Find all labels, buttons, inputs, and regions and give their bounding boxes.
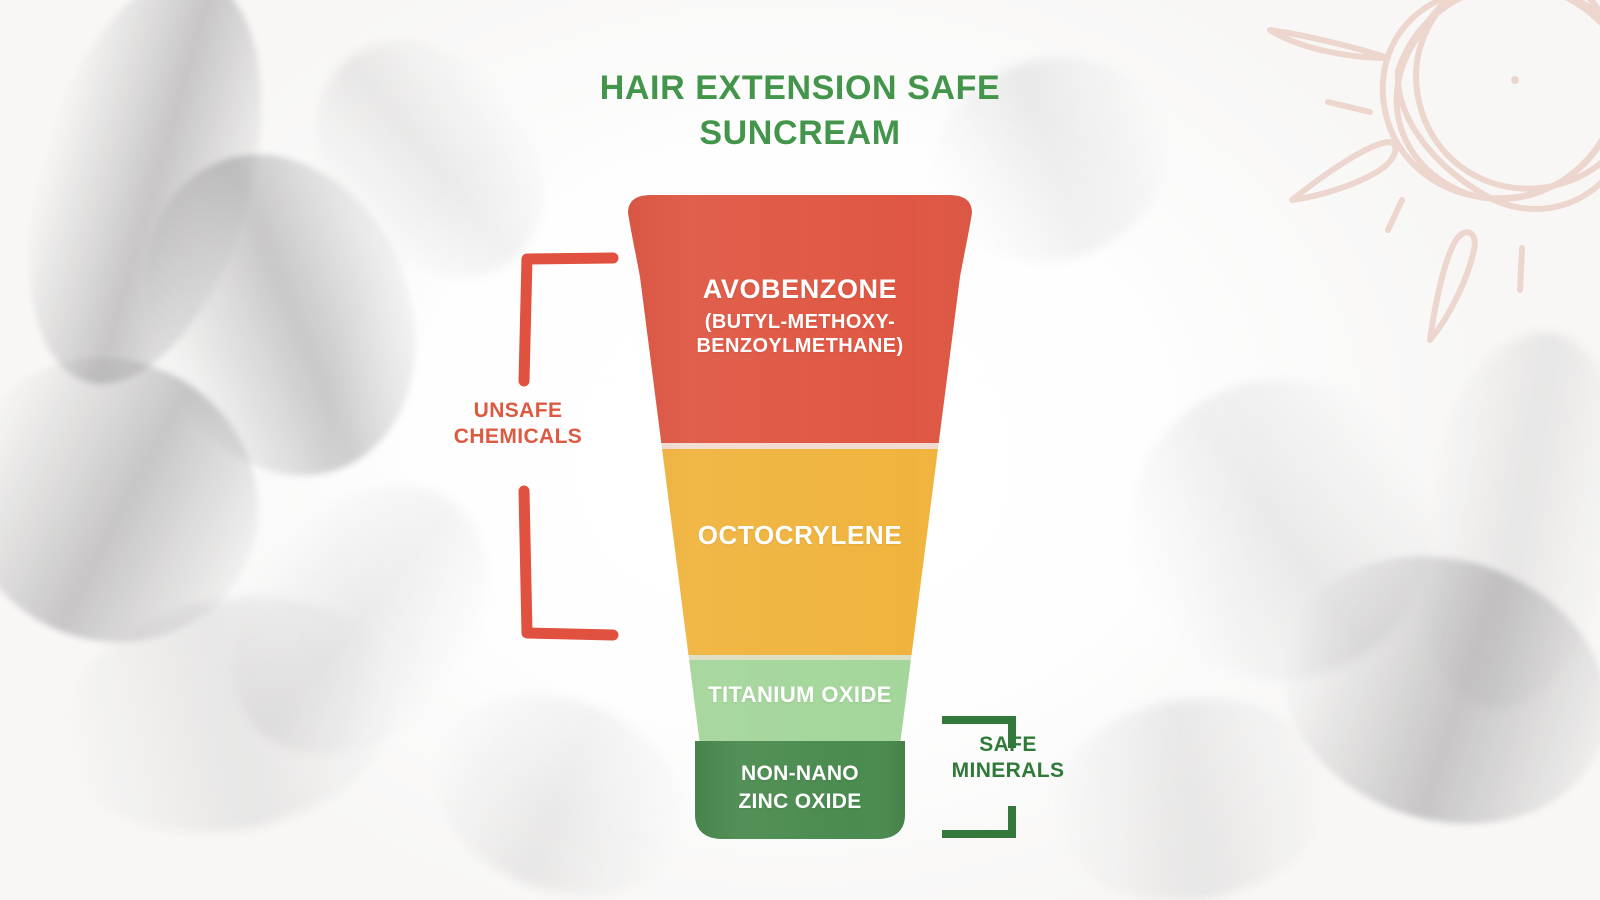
infographic-canvas: HAIR EXTENSION SAFE SUNCREAM xyxy=(0,0,1600,900)
tube-segments xyxy=(600,185,1000,755)
safe-bracket xyxy=(938,712,1033,842)
sun-icon xyxy=(1240,0,1600,360)
unsafe-bracket xyxy=(505,248,625,658)
